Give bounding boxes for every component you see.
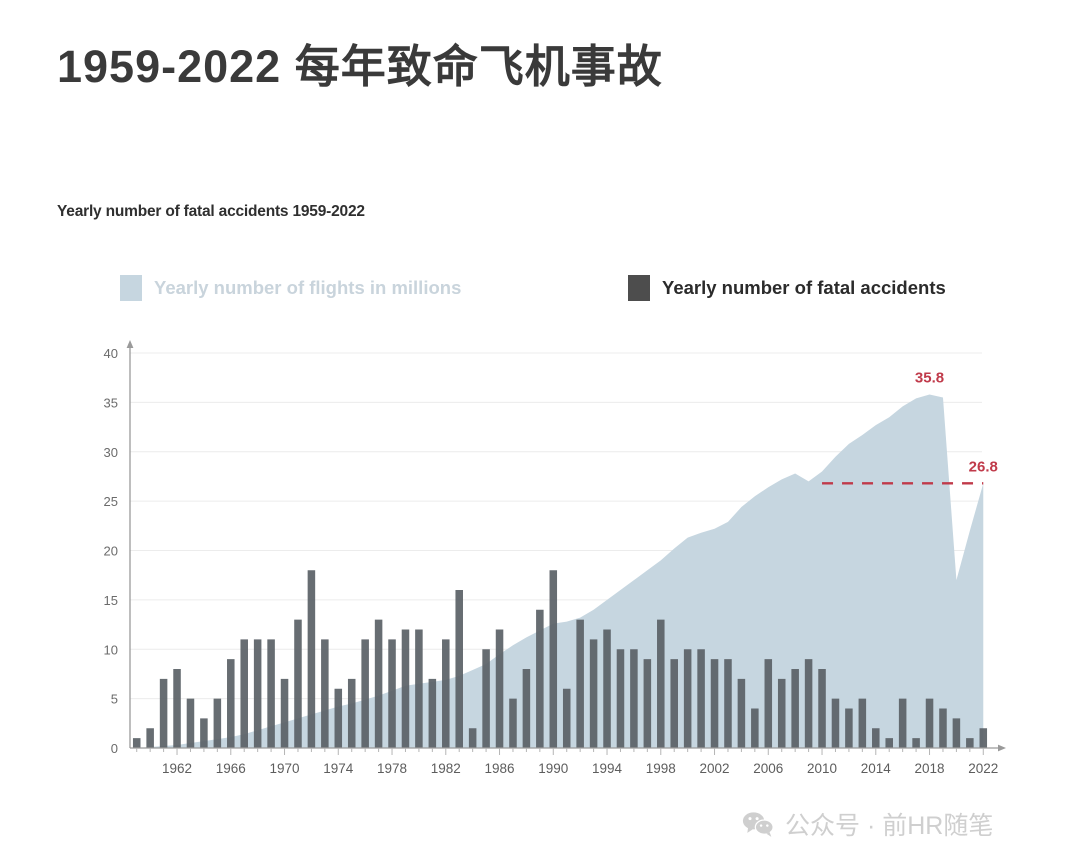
chart-card: Yearly number of fatal accidents 1959-20…	[0, 180, 1080, 810]
y-tick-label: 15	[104, 593, 118, 608]
y-tick-label: 40	[104, 346, 118, 361]
legend-item-flights[interactable]: Yearly number of flights in millions	[120, 275, 461, 301]
chart-annotation: 35.8	[915, 369, 944, 386]
plot-area: 0510152025303540196219661970197419781982…	[85, 335, 1015, 780]
x-tick-label: 1990	[538, 761, 568, 776]
x-tick-label: 1982	[431, 761, 461, 776]
chart-subtitle: Yearly number of fatal accidents 1959-20…	[57, 203, 365, 221]
x-tick-label: 1962	[162, 761, 192, 776]
y-tick-label: 10	[104, 642, 118, 657]
x-tick-label: 1994	[592, 761, 623, 776]
watermark-text: 公众号 · 前HR随笔	[785, 806, 993, 842]
legend-swatch-flights-icon	[120, 275, 142, 301]
x-tick-label: 1970	[270, 761, 300, 776]
legend-label-flights: Yearly number of flights in millions	[154, 277, 461, 299]
legend-item-accidents[interactable]: Yearly number of fatal accidents	[628, 275, 946, 301]
x-tick-label: 2022	[968, 761, 998, 776]
legend-label-accidents: Yearly number of fatal accidents	[662, 277, 946, 299]
page-title: 1959-2022 每年致命飞机事故	[57, 30, 663, 95]
legend-swatch-accidents-icon	[628, 275, 650, 301]
y-tick-label: 30	[104, 445, 118, 460]
x-tick-label: 1998	[646, 761, 676, 776]
y-tick-label: 5	[111, 692, 118, 707]
x-tick-label: 2014	[861, 761, 892, 776]
chart-annotation: 26.8	[969, 458, 998, 475]
chart-legend: Yearly number of flights in millions Yea…	[120, 275, 1020, 307]
x-tick-label: 1966	[216, 761, 246, 776]
x-tick-label: 1978	[377, 761, 407, 776]
y-tick-label: 20	[104, 544, 118, 559]
x-tick-label: 2006	[753, 761, 783, 776]
wechat-icon	[742, 810, 774, 838]
x-tick-label: 1986	[485, 761, 515, 776]
watermark: 公众号 · 前HR随笔	[742, 806, 993, 842]
x-tick-label: 1974	[323, 761, 354, 776]
x-tick-label: 2018	[915, 761, 945, 776]
x-tick-label: 2010	[807, 761, 837, 776]
y-tick-label: 0	[111, 741, 118, 756]
x-tick-label: 2002	[700, 761, 730, 776]
y-tick-label: 25	[104, 494, 118, 509]
fatal-accidents-chart: 0510152025303540196219661970197419781982…	[85, 335, 1015, 780]
y-tick-label: 35	[104, 395, 118, 410]
